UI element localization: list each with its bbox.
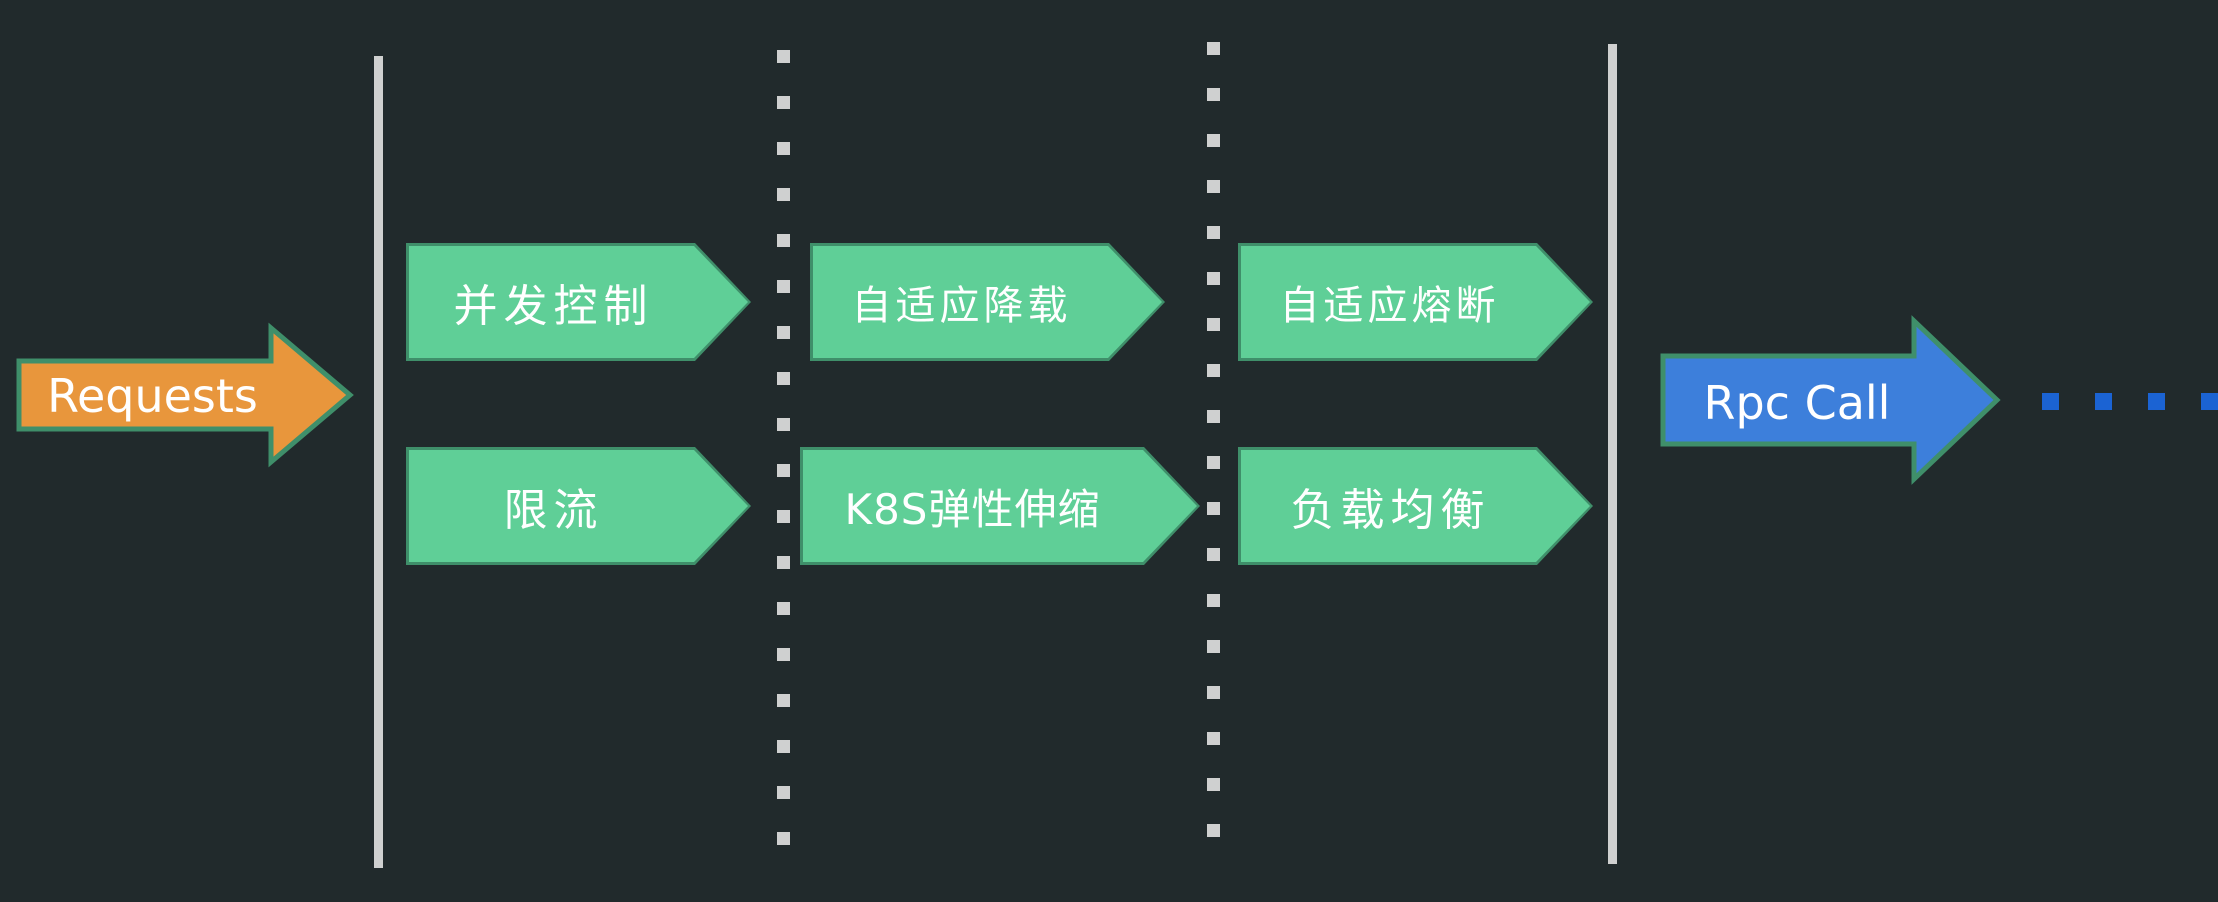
boundary-line-left	[374, 56, 383, 868]
stage-two-top-arrow-fill	[813, 246, 1162, 358]
stage-one-top-arrow[interactable]: 并发控制	[406, 243, 751, 361]
diagram-canvas: Requests 并发控制 限流 自适应降载 K8S弹性伸缩 自适应熔断 负载均…	[0, 0, 2218, 902]
stage-one-top-arrow-fill	[409, 246, 748, 358]
stage-two-top-arrow[interactable]: 自适应降载	[810, 243, 1165, 361]
stage-three-top-arrow-fill	[1241, 246, 1590, 358]
rpc-call-arrow-label: Rpc Call	[1684, 376, 1910, 430]
stage-two-bottom-arrow-fill	[803, 450, 1197, 562]
continuation-dot-icon	[2095, 393, 2112, 410]
stage-three-top-arrow[interactable]: 自适应熔断	[1238, 243, 1593, 361]
stage-two-bottom-arrow[interactable]: K8S弹性伸缩	[800, 447, 1200, 565]
continuation-dot-icon	[2042, 393, 2059, 410]
continuation-dot-icon	[2201, 393, 2218, 410]
divider-line-one	[777, 50, 790, 848]
rpc-call-arrow[interactable]: Rpc Call	[1660, 318, 2000, 482]
boundary-line-right	[1608, 44, 1617, 864]
stage-three-bottom-arrow[interactable]: 负载均衡	[1238, 447, 1593, 565]
divider-line-two	[1207, 42, 1220, 840]
requests-arrow[interactable]: Requests	[16, 325, 353, 465]
stage-one-bottom-arrow[interactable]: 限流	[406, 447, 751, 565]
continuation-dots	[2042, 393, 2218, 410]
stage-three-bottom-arrow-fill	[1241, 450, 1590, 562]
stage-one-bottom-arrow-fill	[409, 450, 748, 562]
requests-arrow-label: Requests	[40, 369, 265, 423]
continuation-dot-icon	[2148, 393, 2165, 410]
